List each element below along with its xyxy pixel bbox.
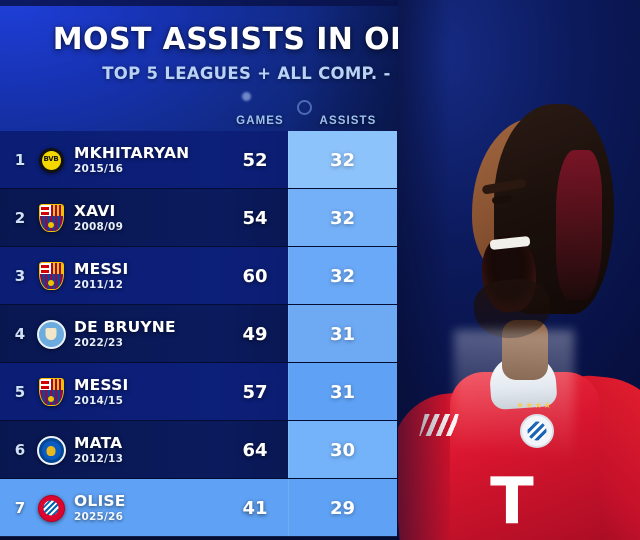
row-player: MESSI2014/15 [74,363,224,421]
column-header-games: GAMES [222,115,298,127]
ranking-table: 1MKHITARYAN2015/1652322XAVI2008/0954323M… [0,131,397,537]
row-assists-value: 30 [330,440,355,461]
row-assists-cell: 29 [288,479,397,537]
row-assists-cell: 30 [288,421,397,479]
row-crest [32,305,70,363]
row-assists-value: 29 [330,498,355,519]
infographic-stage: MOST ASSISTS IN ONE SEASON TOP 5 LEAGUES… [0,0,640,540]
row-player: MATA2012/13 [74,421,224,479]
row-games-value: 41 [222,479,288,537]
row-assists-cell: 32 [288,189,397,247]
row-separator [0,536,397,537]
row-games-value: 64 [222,421,288,479]
club-crest-bayern-munich-icon [38,495,65,522]
row-rank: 6 [8,421,32,479]
player-season: 2022/23 [74,337,224,349]
table-row[interactable]: 5MESSI2014/155731 [0,363,397,421]
row-crest [32,363,70,421]
player-name: DE BRUYNE [74,319,224,335]
row-assists-value: 32 [330,150,355,171]
row-rank: 4 [8,305,32,363]
club-crest-barcelona-icon [39,262,64,290]
row-crest [32,479,70,537]
player-name: MATA [74,435,224,451]
row-rank: 1 [8,131,32,189]
row-games-value: 57 [222,363,288,421]
table-row[interactable]: 2XAVI2008/095432 [0,189,397,247]
player-season: 2008/09 [74,221,224,233]
row-assists-cell: 32 [288,247,397,305]
row-assists-value: 32 [330,208,355,229]
row-assists-value: 31 [330,382,355,403]
club-crest-barcelona-icon [39,378,64,406]
row-games-value: 60 [222,247,288,305]
player-season: 2012/13 [74,453,224,465]
player-name: MESSI [74,377,224,393]
player-name: XAVI [74,203,224,219]
club-crest-borussia-dortmund-icon [39,148,64,173]
player-season: 2014/15 [74,395,224,407]
club-crest-chelsea-icon [37,436,66,465]
table-row[interactable]: 1MKHITARYAN2015/165232 [0,131,397,189]
player-name: OLISE [74,493,224,509]
player-name: MKHITARYAN [74,145,224,161]
table-row[interactable]: 4DE BRUYNE2022/234931 [0,305,397,363]
row-games-value: 52 [222,131,288,189]
table-row[interactable]: 3MESSI2011/126032 [0,247,397,305]
row-games-value: 54 [222,189,288,247]
player-season: 2025/26 [74,511,224,523]
row-crest [32,247,70,305]
row-rank: 2 [8,189,32,247]
player-photo: ★★★★ T [398,0,640,540]
row-rank: 3 [8,247,32,305]
row-assists-value: 31 [330,324,355,345]
row-player: DE BRUYNE2022/23 [74,305,224,363]
row-player: MKHITARYAN2015/16 [74,131,224,189]
player-season: 2015/16 [74,163,224,175]
row-player: OLISE2025/26 [74,479,224,537]
row-assists-cell: 32 [288,131,397,189]
row-rank: 5 [8,363,32,421]
table-row[interactable]: 6MATA2012/136430 [0,421,397,479]
table-row[interactable]: 7OLISE2025/264129 [0,479,397,537]
photo-edge-shade [398,0,640,540]
row-player: XAVI2008/09 [74,189,224,247]
row-games-value: 49 [222,305,288,363]
club-crest-manchester-city-icon [37,320,66,349]
row-rank: 7 [8,479,32,537]
row-crest [32,189,70,247]
row-player: MESSI2011/12 [74,247,224,305]
row-assists-cell: 31 [288,305,397,363]
player-season: 2011/12 [74,279,224,291]
row-crest [32,421,70,479]
player-name: MESSI [74,261,224,277]
club-crest-barcelona-icon [39,204,64,232]
row-assists-value: 32 [330,266,355,287]
row-assists-cell: 31 [288,363,397,421]
row-crest [32,131,70,189]
column-header-assists: ASSISTS [300,115,396,127]
